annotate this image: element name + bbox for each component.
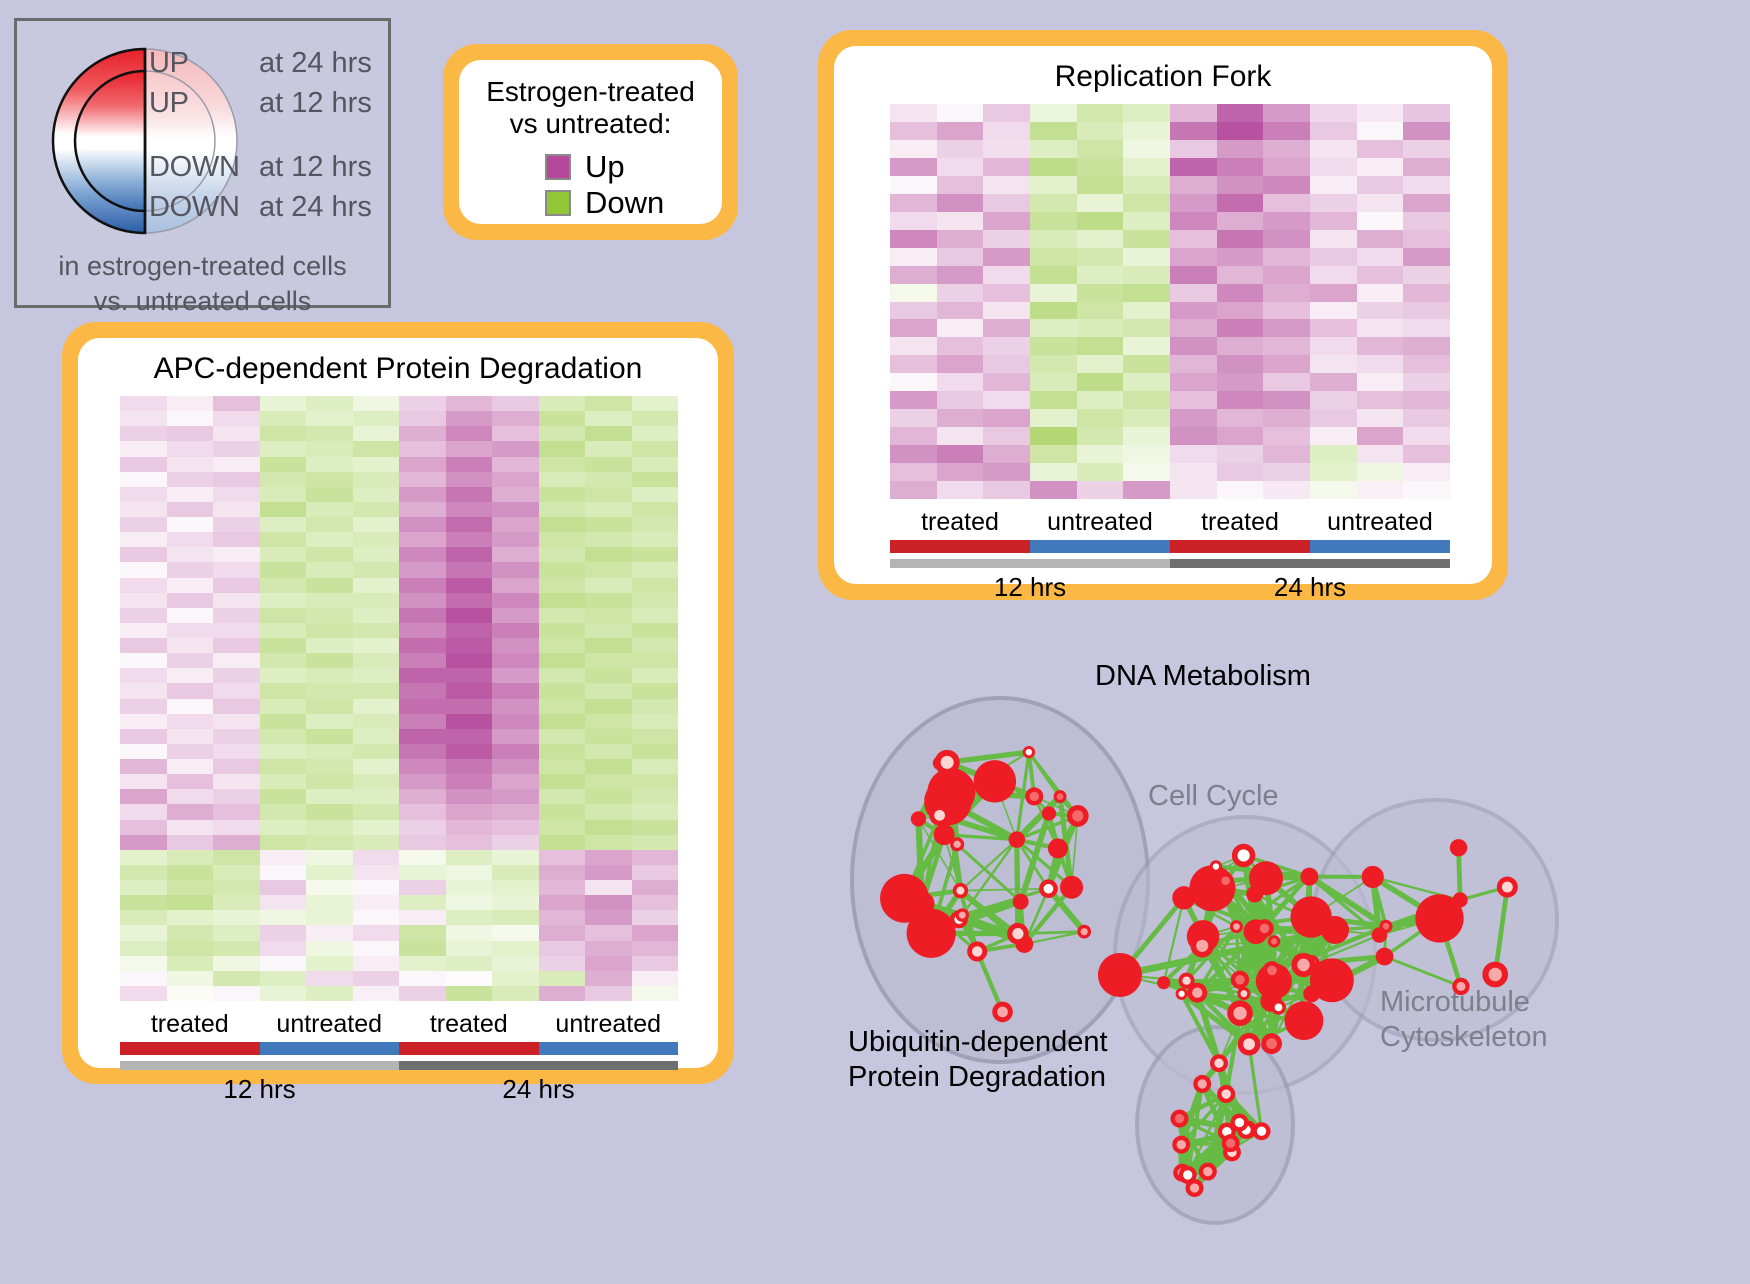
heatmap-cell xyxy=(1077,284,1124,302)
heatmap-cell xyxy=(1170,463,1217,481)
legend-label-up: Up xyxy=(585,151,625,182)
heatmap-cell xyxy=(1403,158,1450,176)
heatmap-cell xyxy=(213,487,260,502)
heatmap-cell xyxy=(1357,319,1404,337)
network-node[interactable] xyxy=(1255,919,1273,937)
heatmap-cell xyxy=(1077,302,1124,320)
network-node[interactable] xyxy=(1230,1114,1248,1132)
network-node[interactable] xyxy=(1261,1033,1282,1054)
time-color-segment xyxy=(120,1061,399,1070)
heatmap-cell xyxy=(1123,122,1170,140)
heatmap-cell xyxy=(446,850,493,865)
heatmap-cell xyxy=(306,774,353,789)
network-node[interactable] xyxy=(1199,1163,1217,1181)
heatmap-cell xyxy=(446,487,493,502)
network-node[interactable] xyxy=(1372,927,1388,943)
heatmap-cell xyxy=(213,820,260,835)
node-inner-circle xyxy=(956,887,964,895)
heatmap-cell xyxy=(260,411,307,426)
heatmap-cell xyxy=(399,865,446,880)
heatmap-cell xyxy=(353,744,400,759)
colorwheel-footer-line1: in estrogen-treated cells xyxy=(17,249,388,284)
heatmap-cell xyxy=(539,714,586,729)
heatmap-cell xyxy=(306,941,353,956)
heatmap-cell xyxy=(539,941,586,956)
heatmap-cell xyxy=(446,441,493,456)
heatmap-cell xyxy=(446,729,493,744)
heatmap-cell xyxy=(167,971,214,986)
heatmap-cell xyxy=(585,638,632,653)
time-color-bar xyxy=(890,559,1450,568)
heatmap-cell xyxy=(937,427,984,445)
network-node[interactable] xyxy=(1450,839,1467,856)
heatmap-cell xyxy=(1403,140,1450,158)
heatmap-cell xyxy=(632,547,679,562)
network-node[interactable] xyxy=(1098,953,1142,997)
heatmap-cell xyxy=(167,941,214,956)
heatmap-cell xyxy=(446,578,493,593)
network-node[interactable] xyxy=(1210,1054,1228,1072)
heatmap-cell xyxy=(260,472,307,487)
heatmap-cell xyxy=(306,532,353,547)
treatment-color-segment xyxy=(890,540,1030,553)
network-node[interactable] xyxy=(911,811,926,826)
heatmap-cell xyxy=(1403,373,1450,391)
heatmap-cell xyxy=(399,578,446,593)
heatmap-cell xyxy=(1123,230,1170,248)
heatmap-cell xyxy=(585,441,632,456)
network-node[interactable] xyxy=(1157,976,1170,989)
heatmap-cell xyxy=(213,547,260,562)
heatmap-cell xyxy=(353,986,400,1001)
network-node[interactable] xyxy=(1291,953,1315,977)
network-node[interactable] xyxy=(1300,868,1318,886)
heatmap-cell xyxy=(1263,319,1310,337)
network-node[interactable] xyxy=(955,908,969,922)
heatmap-cell xyxy=(167,895,214,910)
heatmap-cell xyxy=(983,212,1030,230)
heatmap-cell xyxy=(306,653,353,668)
treatment-color-segment xyxy=(539,1042,679,1055)
network-node[interactable] xyxy=(1171,1110,1189,1128)
network-node[interactable] xyxy=(934,824,955,845)
network-node[interactable] xyxy=(1060,876,1083,899)
network-node[interactable] xyxy=(953,883,968,898)
heatmap-cell xyxy=(983,427,1030,445)
heatmap-cell xyxy=(632,668,679,683)
network-node[interactable] xyxy=(974,760,1017,803)
heatmap-cell xyxy=(585,986,632,1001)
heatmap-cell xyxy=(890,212,937,230)
network-node[interactable] xyxy=(1025,787,1043,805)
network-node[interactable] xyxy=(1039,879,1058,898)
heatmap-cell xyxy=(585,744,632,759)
heatmap-cell xyxy=(213,457,260,472)
network-node[interactable] xyxy=(1217,873,1233,889)
network-node[interactable] xyxy=(1230,920,1243,933)
node-inner-circle xyxy=(1266,1038,1277,1049)
network-node[interactable] xyxy=(1077,925,1091,939)
heatmap-cell xyxy=(120,910,167,925)
heatmap-cell xyxy=(213,714,260,729)
replication-fork-panel: Replication Fork treateduntreatedtreated… xyxy=(818,30,1508,600)
heatmap-cell xyxy=(1123,373,1170,391)
heatmap-cell xyxy=(213,835,260,850)
heatmap-cell xyxy=(539,411,586,426)
heatmap-cell xyxy=(120,578,167,593)
heatmap-cell xyxy=(399,880,446,895)
network-node[interactable] xyxy=(1497,877,1518,898)
heatmap-cell xyxy=(632,910,679,925)
colorwheel-key: DOWN xyxy=(149,191,259,224)
heatmap-cell xyxy=(399,532,446,547)
network-node[interactable] xyxy=(1009,831,1026,848)
network-node[interactable] xyxy=(1237,987,1250,1000)
network-node[interactable] xyxy=(1227,1000,1253,1026)
heatmap-cell xyxy=(260,925,307,940)
network-node[interactable] xyxy=(1191,934,1214,957)
network-node[interactable] xyxy=(1178,973,1194,989)
node-inner-circle xyxy=(1235,1118,1244,1127)
heatmap-cell xyxy=(983,319,1030,337)
heatmap-cell xyxy=(167,744,214,759)
heatmap-cell xyxy=(1217,284,1264,302)
network-node[interactable] xyxy=(1362,866,1384,888)
heatmap-cell xyxy=(1030,337,1077,355)
heatmap-cell xyxy=(1310,122,1357,140)
heatmap-cell xyxy=(306,638,353,653)
heatmap-cell xyxy=(446,472,493,487)
treatment-color-segment xyxy=(399,1042,539,1055)
network-node[interactable] xyxy=(1271,1000,1286,1015)
heatmap-cell xyxy=(120,744,167,759)
network-node[interactable] xyxy=(1232,844,1256,868)
heatmap-cell xyxy=(306,683,353,698)
heatmap-cell xyxy=(890,427,937,445)
network-node[interactable] xyxy=(1210,860,1222,872)
heatmap-cell xyxy=(120,502,167,517)
heatmap-cell xyxy=(446,971,493,986)
heatmap-cell xyxy=(260,895,307,910)
heatmap-cell xyxy=(213,411,260,426)
network-node[interactable] xyxy=(1303,986,1320,1003)
colorwheel-key: UP xyxy=(149,47,259,80)
heatmap-cell xyxy=(399,547,446,562)
heatmap-cell xyxy=(1357,373,1404,391)
heatmap-cell xyxy=(1357,194,1404,212)
heatmap-cell xyxy=(1030,140,1077,158)
heatmap-cell xyxy=(353,547,400,562)
heatmap-cell xyxy=(937,481,984,499)
time-color-segment xyxy=(399,1061,678,1070)
heatmap-cell xyxy=(260,502,307,517)
heatmap-cell xyxy=(539,638,586,653)
heatmap-cell xyxy=(1077,391,1124,409)
heatmap-cell xyxy=(260,517,307,532)
heatmap-cell xyxy=(399,729,446,744)
treatment-color-segment xyxy=(260,1042,400,1055)
heatmap-cell xyxy=(213,608,260,623)
heatmap-cell xyxy=(585,426,632,441)
apc-axis: treateduntreatedtreateduntreated12 hrs24… xyxy=(120,1010,678,1105)
colorwheel-footer: in estrogen-treated cells vs. untreated … xyxy=(17,249,388,318)
heatmap-cell xyxy=(1170,176,1217,194)
heatmap-cell xyxy=(890,230,937,248)
legend-item-down: Down xyxy=(545,185,722,221)
heatmap-cell xyxy=(539,850,586,865)
network-node[interactable] xyxy=(1007,923,1029,945)
network-node[interactable] xyxy=(967,941,987,961)
heatmap-cell xyxy=(585,971,632,986)
network-node[interactable] xyxy=(1321,916,1349,944)
network-node[interactable] xyxy=(1231,971,1249,989)
heatmap-cell xyxy=(632,820,679,835)
network-node[interactable] xyxy=(1253,1122,1271,1140)
network-node[interactable] xyxy=(1042,806,1056,820)
network-node[interactable] xyxy=(1023,746,1035,758)
network-node[interactable] xyxy=(1193,1075,1211,1093)
heatmap-cell xyxy=(306,804,353,819)
network-node[interactable] xyxy=(935,750,960,775)
heatmap-cell xyxy=(399,895,446,910)
heatmap-cell xyxy=(492,653,539,668)
network-node[interactable] xyxy=(1013,894,1029,910)
heatmap-cell xyxy=(632,578,679,593)
network-node[interactable] xyxy=(1048,838,1068,858)
heatmap-cell xyxy=(167,487,214,502)
colorwheel-row-up-12: UP at 12 hrs xyxy=(149,87,389,127)
network-label-cell-cycle: Cell Cycle xyxy=(1148,780,1279,813)
heatmap-cell xyxy=(399,638,446,653)
heatmap-cell xyxy=(492,986,539,1001)
node-outer-circle xyxy=(1303,986,1320,1003)
node-inner-circle xyxy=(1192,987,1202,997)
network-node[interactable] xyxy=(1246,886,1263,903)
treatment-color-bar xyxy=(120,1042,678,1055)
heatmap-cell xyxy=(1310,391,1357,409)
heatmap-cell xyxy=(585,941,632,956)
heatmap-cell xyxy=(260,850,307,865)
network-node[interactable] xyxy=(1217,1085,1235,1103)
heatmap-cell xyxy=(632,865,679,880)
heatmap-cell xyxy=(167,517,214,532)
heatmap-cell xyxy=(539,820,586,835)
node-inner-circle xyxy=(1072,810,1083,821)
node-inner-circle xyxy=(1081,928,1088,935)
time-color-segment xyxy=(890,559,1170,568)
heatmap-cell xyxy=(492,699,539,714)
heatmap-cell xyxy=(1217,158,1264,176)
heatmap-cell xyxy=(213,653,260,668)
heatmap-cell xyxy=(492,729,539,744)
heatmap-cell xyxy=(1310,445,1357,463)
heatmap-cell xyxy=(539,759,586,774)
heatmap-cell xyxy=(1030,481,1077,499)
heatmap-cell xyxy=(353,729,400,744)
heatmap-cell xyxy=(539,835,586,850)
network-node[interactable] xyxy=(1054,790,1067,803)
network-node[interactable] xyxy=(992,1002,1013,1023)
heatmap-cell xyxy=(492,502,539,517)
heatmap-cell xyxy=(353,789,400,804)
heatmap-cell xyxy=(1403,445,1450,463)
heatmap-cell xyxy=(890,104,937,122)
up-color-swatch xyxy=(545,154,571,180)
heatmap-cell xyxy=(1217,391,1264,409)
heatmap-cell xyxy=(306,502,353,517)
heatmap-cell xyxy=(399,517,446,532)
network-node[interactable] xyxy=(1172,886,1195,909)
heatmap-cell xyxy=(632,941,679,956)
heatmap-cell xyxy=(213,910,260,925)
heatmap-cell xyxy=(353,865,400,880)
heatmap-cell xyxy=(353,941,400,956)
heatmap-cell xyxy=(260,941,307,956)
heatmap-cell xyxy=(1170,248,1217,266)
apc-panel: APC-dependent Protein Degradation treate… xyxy=(62,322,734,1084)
network-node[interactable] xyxy=(1268,935,1280,947)
heatmap-cell xyxy=(446,744,493,759)
heatmap-cell xyxy=(492,457,539,472)
heatmap-cell xyxy=(1403,337,1450,355)
heatmap-cell xyxy=(1357,248,1404,266)
heatmap-cell xyxy=(120,895,167,910)
heatmap-cell xyxy=(585,487,632,502)
heatmap-cell xyxy=(399,623,446,638)
heatmap-cell xyxy=(937,266,984,284)
treatment-label: untreated xyxy=(1030,508,1170,537)
heatmap-cell xyxy=(937,445,984,463)
heatmap-cell xyxy=(632,562,679,577)
heatmap-cell xyxy=(306,472,353,487)
heatmap-cell xyxy=(1263,427,1310,445)
heatmap-cell xyxy=(306,789,353,804)
heatmap-cell xyxy=(1357,122,1404,140)
heatmap-cell xyxy=(492,547,539,562)
heatmap-cell xyxy=(213,426,260,441)
heatmap-cell xyxy=(1263,140,1310,158)
heatmap-cell xyxy=(1077,481,1124,499)
network-node[interactable] xyxy=(1179,1166,1197,1184)
heatmap-cell xyxy=(446,532,493,547)
heatmap-cell xyxy=(937,355,984,373)
heatmap-cell xyxy=(890,445,937,463)
heatmap-cell xyxy=(446,820,493,835)
colorwheel-legend-box: UP at 24 hrs UP at 12 hrs DOWN at 12 hrs… xyxy=(14,18,391,308)
heatmap-cell xyxy=(1123,445,1170,463)
heatmap-cell xyxy=(1310,481,1357,499)
heatmap-cell xyxy=(120,774,167,789)
heatmap-cell xyxy=(1123,319,1170,337)
heatmap-cell xyxy=(1030,194,1077,212)
heatmap-cell xyxy=(306,487,353,502)
heatmap-cell xyxy=(1217,248,1264,266)
network-node[interactable] xyxy=(1238,1033,1261,1056)
heatmap-cell xyxy=(353,956,400,971)
node-outer-circle xyxy=(1048,838,1068,858)
heatmap-cell xyxy=(260,487,307,502)
heatmap-cell xyxy=(585,547,632,562)
network-node[interactable] xyxy=(929,805,950,826)
heatmap-cell xyxy=(167,789,214,804)
heatmap-cell xyxy=(1030,176,1077,194)
heatmap-cell xyxy=(213,804,260,819)
heatmap-cell xyxy=(213,623,260,638)
heatmap-cell xyxy=(492,441,539,456)
node-inner-circle xyxy=(997,1007,1008,1018)
down-color-swatch xyxy=(545,190,571,216)
heatmap-cell xyxy=(1403,176,1450,194)
network-node[interactable] xyxy=(1376,948,1394,966)
heatmap-cell xyxy=(353,971,400,986)
heatmap-cell xyxy=(585,593,632,608)
heatmap-cell xyxy=(446,608,493,623)
heatmap-cell xyxy=(213,472,260,487)
node-inner-circle xyxy=(1222,1089,1231,1098)
heatmap-cell xyxy=(353,850,400,865)
heatmap-cell xyxy=(1170,355,1217,373)
network-node[interactable] xyxy=(1172,1136,1190,1154)
pathway-network-diagram: DNA Metabolism Cell Cycle Microtubule Cy… xyxy=(790,620,1750,1279)
node-inner-circle xyxy=(1175,1114,1184,1123)
network-node[interactable] xyxy=(1263,961,1282,980)
heatmap-cell xyxy=(585,714,632,729)
heatmap-cell xyxy=(446,925,493,940)
treatment-label: untreated xyxy=(1310,508,1450,537)
network-node[interactable] xyxy=(1176,988,1188,1000)
heatmap-cell xyxy=(585,699,632,714)
heatmap-cell xyxy=(539,547,586,562)
heatmap-cell xyxy=(120,820,167,835)
heatmap-cell xyxy=(983,104,1030,122)
heatmap-cell xyxy=(890,122,937,140)
heatmap-cell xyxy=(399,562,446,577)
heatmap-cell xyxy=(260,759,307,774)
heatmap-cell xyxy=(260,986,307,1001)
heatmap-cell xyxy=(890,158,937,176)
heatmap-cell xyxy=(1310,194,1357,212)
heatmap-cell xyxy=(213,562,260,577)
node-inner-circle xyxy=(1243,1038,1255,1050)
heatmap-cell xyxy=(306,517,353,532)
time-color-segment xyxy=(1170,559,1450,568)
heatmap-cell xyxy=(1170,319,1217,337)
network-node[interactable] xyxy=(1222,1134,1240,1152)
node-inner-circle xyxy=(1203,1167,1212,1176)
heatmap-cell xyxy=(120,880,167,895)
heatmap-cell xyxy=(167,638,214,653)
heatmap-cell xyxy=(260,562,307,577)
network-node[interactable] xyxy=(1067,805,1089,827)
heatmap-cell xyxy=(120,426,167,441)
network-node[interactable] xyxy=(1284,1001,1323,1040)
network-node[interactable] xyxy=(1482,962,1508,988)
heatmap-cell xyxy=(1217,409,1264,427)
heatmap-cell xyxy=(492,683,539,698)
heatmap-cell xyxy=(353,668,400,683)
heatmap-cell xyxy=(1077,248,1124,266)
heatmap-cell xyxy=(1357,104,1404,122)
heatmap-cell xyxy=(1170,140,1217,158)
heatmap-cell xyxy=(539,699,586,714)
network-node[interactable] xyxy=(1453,892,1468,907)
heatmap-cell xyxy=(1077,463,1124,481)
estrogen-legend-items: Up Down xyxy=(459,149,722,221)
heatmap-cell xyxy=(306,835,353,850)
network-node[interactable] xyxy=(910,891,935,916)
colorwheel-value: at 24 hrs xyxy=(259,47,372,80)
heatmap-cell xyxy=(260,638,307,653)
